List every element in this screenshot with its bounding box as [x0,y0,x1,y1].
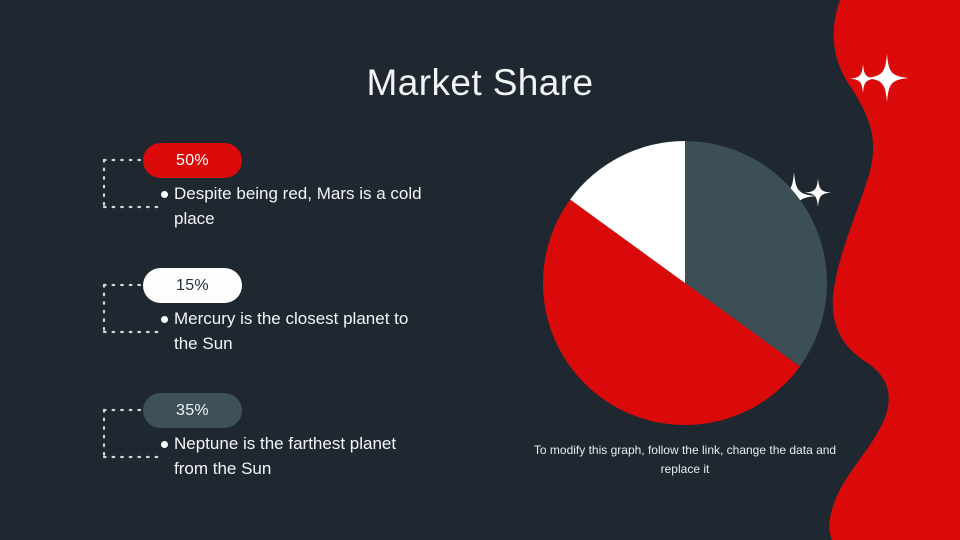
bullet-icon [161,441,168,448]
pie-slices [543,141,827,425]
legend-item-description: Mercury is the closest planet to the Sun [174,306,424,356]
legend-item-description: Neptune is the farthest planet from the … [174,431,424,481]
percent-badge[interactable]: 50% [143,143,242,178]
legend-item[interactable]: 50% Despite being red, Mars is a cold pl… [100,140,430,265]
slide-canvas: Market Share 50% Despite being red, Mars… [0,0,960,540]
bullet-icon [161,316,168,323]
page-title: Market Share [0,62,960,104]
legend-item-description: Despite being red, Mars is a cold place [174,181,424,231]
legend-item[interactable]: 15% Mercury is the closest planet to the… [100,265,430,390]
chart-caption: To modify this graph, follow the link, c… [525,441,845,479]
pie-chart[interactable] [543,141,827,425]
legend-item[interactable]: 35% Neptune is the farthest planet from … [100,390,430,515]
bullet-icon [161,191,168,198]
percent-badge[interactable]: 15% [143,268,242,303]
percent-badge[interactable]: 35% [143,393,242,428]
legend-list: 50% Despite being red, Mars is a cold pl… [100,140,430,515]
